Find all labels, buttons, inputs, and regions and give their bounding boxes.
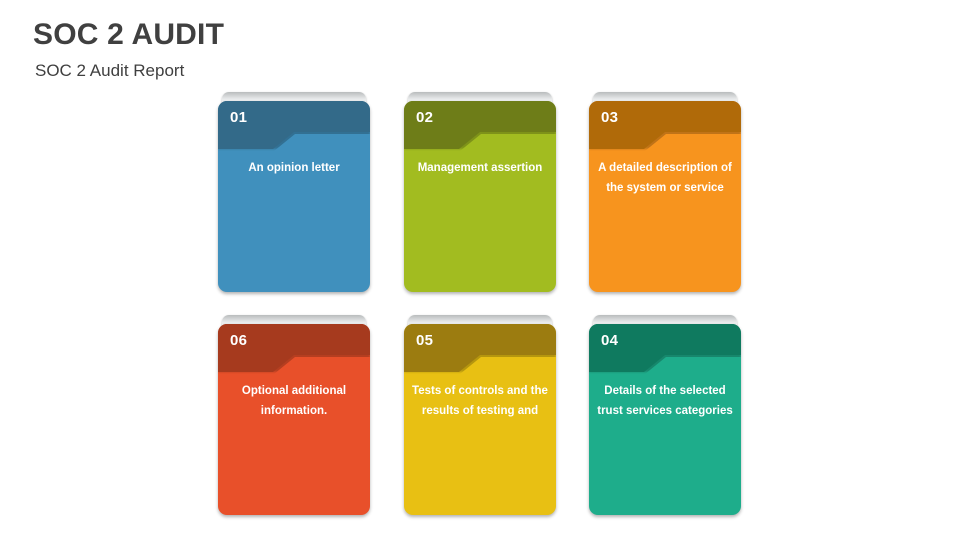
card-body: 04 Details of the selected trust service… xyxy=(589,324,741,515)
card-03[interactable]: 03 A detailed description of the system … xyxy=(589,92,741,292)
card-number: 02 xyxy=(416,109,433,126)
card-text: Details of the selected trust services c… xyxy=(597,382,733,421)
card-number: 05 xyxy=(416,332,433,349)
card-body: 03 A detailed description of the system … xyxy=(589,101,741,292)
card-number: 06 xyxy=(230,332,247,349)
card-text: An opinion letter xyxy=(226,159,362,179)
card-body: 05 Tests of controls and the results of … xyxy=(404,324,556,515)
card-body: 02 Management assertion xyxy=(404,101,556,292)
card-grid: 01 An opinion letter 02 Management asser… xyxy=(0,0,960,540)
card-text: Management assertion xyxy=(412,159,548,179)
card-body: 06 Optional additional information. xyxy=(218,324,370,515)
card-text: Optional additional information. xyxy=(226,382,362,421)
card-01[interactable]: 01 An opinion letter xyxy=(218,92,370,292)
card-02[interactable]: 02 Management assertion xyxy=(404,92,556,292)
slide-canvas: SOC 2 AUDIT SOC 2 Audit Report 01 An opi… xyxy=(0,0,960,540)
card-text: A detailed description of the system or … xyxy=(597,159,733,198)
card-number: 03 xyxy=(601,109,618,126)
card-04[interactable]: 04 Details of the selected trust service… xyxy=(589,315,741,515)
card-number: 04 xyxy=(601,332,618,349)
card-06[interactable]: 06 Optional additional information. xyxy=(218,315,370,515)
card-body: 01 An opinion letter xyxy=(218,101,370,292)
card-number: 01 xyxy=(230,109,247,126)
card-05[interactable]: 05 Tests of controls and the results of … xyxy=(404,315,556,515)
card-text: Tests of controls and the results of tes… xyxy=(412,382,548,421)
